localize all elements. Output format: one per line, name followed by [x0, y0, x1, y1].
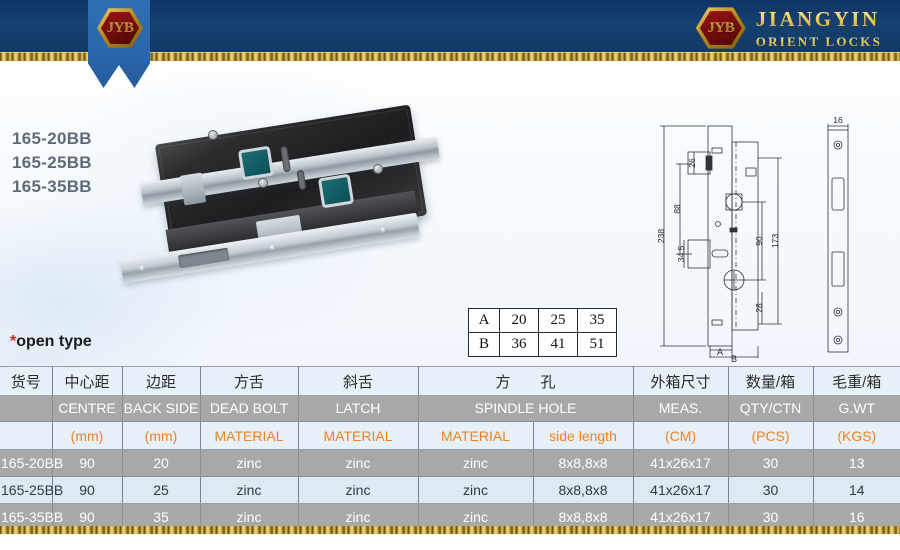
cell-meas: 41x26x17	[633, 477, 728, 504]
technical-drawing: 238 88 26 34.5 173 90 28 16 A B	[650, 112, 898, 362]
brand-tagline: ORIENT LOCKS	[756, 34, 882, 50]
header-cn-meas: 外箱尺寸	[633, 367, 728, 396]
dim-238: 238	[656, 229, 666, 243]
screw-icon	[258, 178, 268, 188]
brand-block: JYB JIANGYIN ORIENT LOCKS	[696, 6, 882, 50]
header-en-centre: CENTRE	[52, 395, 122, 422]
dim-90: 90	[754, 236, 764, 246]
ab-cell: 20	[500, 309, 539, 333]
latch-bolt	[180, 172, 206, 205]
product-photo	[130, 118, 470, 348]
spindle-hole-lower	[318, 174, 354, 209]
unit-backside: (mm)	[122, 422, 200, 450]
open-type-note: *open type	[10, 333, 92, 351]
cell-spindle-material: zinc	[418, 450, 533, 477]
header-en-spindle: SPINDLE HOLE	[418, 395, 633, 422]
table-header-cn: 货号 中心距 边距 方舌 斜舌 方 孔 外箱尺寸 数量/箱 毛重/箱	[0, 367, 900, 396]
marker-a: A	[717, 347, 723, 357]
header-cn-code: 货号	[0, 367, 52, 396]
cell-backside: 20	[122, 450, 200, 477]
header-en-gwt: G.WT	[813, 395, 900, 422]
ab-row-label: A	[469, 309, 500, 333]
header-en-deadbolt: DEAD BOLT	[200, 395, 298, 422]
screw-icon	[208, 130, 218, 140]
header-en-meas: MEAS.	[633, 395, 728, 422]
header-cn-qty: 数量/箱	[728, 367, 813, 396]
catalog-page: JYB JYB JIANGYIN ORIENT LOCKS 165-20BB 1…	[0, 0, 900, 550]
cell-deadbolt: zinc	[200, 450, 298, 477]
unit-meas: (CM)	[633, 422, 728, 450]
cell-gwt: 14	[813, 477, 900, 504]
header-cn-backside: 边距	[122, 367, 200, 396]
unit-spindle-side: side length	[533, 422, 633, 450]
model-code: 165-35BB	[12, 175, 92, 199]
cell-gwt: 13	[813, 450, 900, 477]
strike-plate-opening	[178, 248, 229, 269]
cell-qty: 30	[728, 477, 813, 504]
table-row: A 20 25 35	[469, 309, 617, 333]
cell-backside: 25	[122, 477, 200, 504]
cell-code: 165-25BB	[0, 477, 52, 504]
table-row: 165-20BB 90 20 zinc zinc zinc 8x8,8x8 41…	[0, 450, 900, 477]
model-code-list: 165-20BB 165-25BB 165-35BB	[12, 127, 92, 199]
dim-16: 16	[833, 115, 843, 125]
dim-173: 173	[770, 234, 780, 248]
unit-gwt: (KGS)	[813, 422, 900, 450]
spindle-hole-upper	[238, 146, 274, 181]
open-type-label: open type	[16, 333, 92, 350]
header-en-latch: LATCH	[298, 395, 418, 422]
specification-table: 货号 中心距 边距 方舌 斜舌 方 孔 外箱尺寸 数量/箱 毛重/箱 CENTR…	[0, 366, 900, 531]
logo-text-right: JYB	[696, 6, 746, 50]
unit-code	[0, 422, 52, 450]
jyb-hexagon-icon-right: JYB	[696, 6, 746, 50]
unit-spindle-material: MATERIAL	[418, 422, 533, 450]
dim-34-5: 34.5	[676, 245, 686, 262]
header-en-backside: BACK SIDE	[122, 395, 200, 422]
marker-b: B	[731, 354, 737, 362]
dim-28: 28	[754, 303, 764, 313]
table-row: B 36 41 51	[469, 333, 617, 357]
cell-spindle-side: 8x8,8x8	[533, 477, 633, 504]
screw-icon	[380, 227, 387, 234]
jyb-hexagon-icon: JYB	[97, 7, 143, 49]
cell-spindle-material: zinc	[418, 477, 533, 504]
header-cn-latch: 斜舌	[298, 367, 418, 396]
screw-icon	[373, 164, 383, 174]
model-code: 165-20BB	[12, 127, 92, 151]
footer-spacer	[0, 534, 900, 550]
brand-name: JIANGYIN	[756, 7, 882, 32]
screw-icon	[270, 244, 277, 251]
logo-badge-left: JYB	[97, 7, 143, 49]
footer-gold-border	[0, 526, 900, 534]
ab-row-label: B	[469, 333, 500, 357]
logo-text: JYB	[97, 7, 143, 49]
ab-dimension-table: A 20 25 35 B 36 41 51	[468, 308, 617, 357]
cell-code: 165-20BB	[0, 450, 52, 477]
cell-meas: 41x26x17	[633, 450, 728, 477]
ab-cell: 41	[539, 333, 578, 357]
header-cn-deadbolt: 方舌	[200, 367, 298, 396]
unit-centre: (mm)	[52, 422, 122, 450]
unit-latch: MATERIAL	[298, 422, 418, 450]
unit-deadbolt: MATERIAL	[200, 422, 298, 450]
ab-cell: 25	[539, 309, 578, 333]
dim-26: 26	[687, 158, 697, 168]
table-row: 165-25BB 90 25 zinc zinc zinc 8x8,8x8 41…	[0, 477, 900, 504]
header-cn-centre: 中心距	[52, 367, 122, 396]
ab-cell: 51	[578, 333, 617, 357]
header-cn-spindle: 方 孔	[418, 367, 633, 396]
cell-deadbolt: zinc	[200, 477, 298, 504]
ab-cell: 35	[578, 309, 617, 333]
cell-spindle-side: 8x8,8x8	[533, 450, 633, 477]
header-cn-gwt: 毛重/箱	[813, 367, 900, 396]
screw-icon	[139, 265, 146, 272]
dim-88: 88	[672, 204, 682, 214]
ab-cell: 36	[500, 333, 539, 357]
unit-qty: (PCS)	[728, 422, 813, 450]
cell-latch: zinc	[298, 477, 418, 504]
header-en-code	[0, 395, 52, 422]
model-code: 165-25BB	[12, 151, 92, 175]
cell-qty: 30	[728, 450, 813, 477]
cell-latch: zinc	[298, 450, 418, 477]
header-en-qty: QTY/CTN	[728, 395, 813, 422]
table-header-units: (mm) (mm) MATERIAL MATERIAL MATERIAL sid…	[0, 422, 900, 450]
table-header-en: CENTRE BACK SIDE DEAD BOLT LATCH SPINDLE…	[0, 395, 900, 422]
